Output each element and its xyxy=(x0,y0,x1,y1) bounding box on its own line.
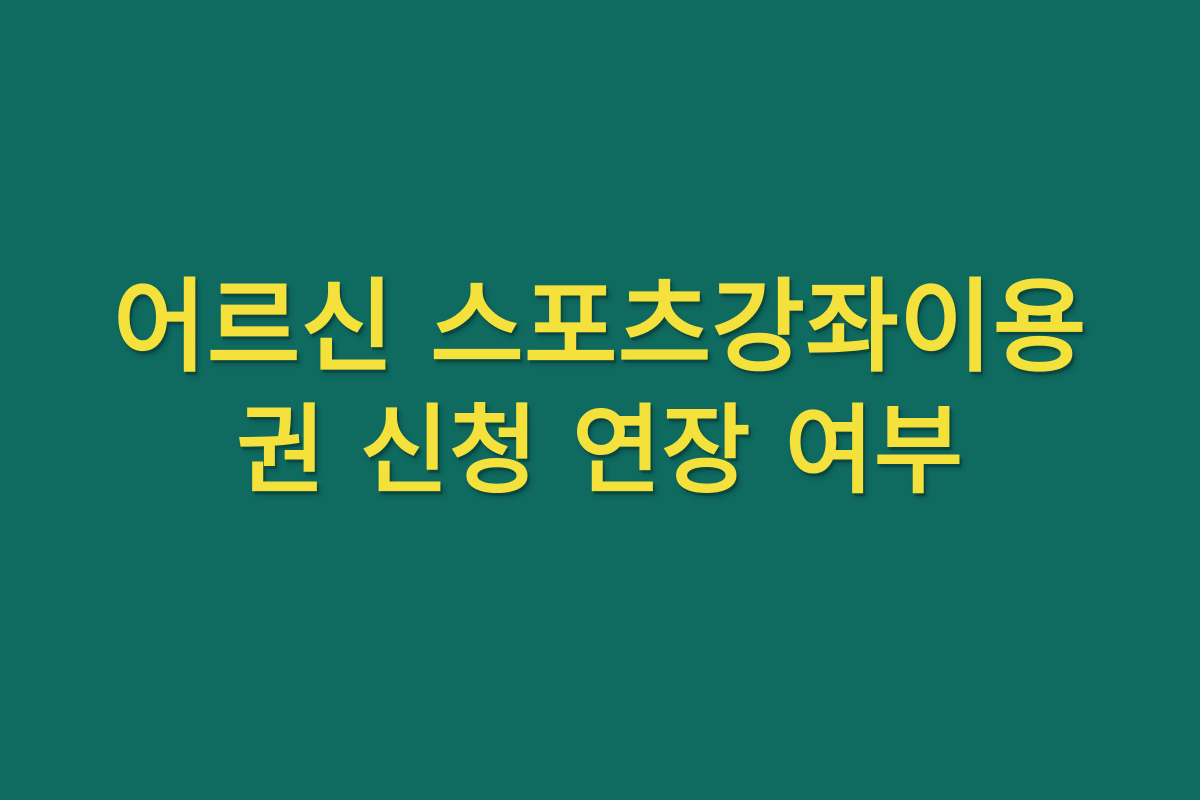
headline-line-1: 어르신 스포츠강좌이용 xyxy=(0,265,1200,391)
headline-text-block: 어르신 스포츠강좌이용 권 신청 연장 여부 xyxy=(0,265,1200,510)
banner-background: 어르신 스포츠강좌이용 권 신청 연장 여부 xyxy=(0,0,1200,800)
headline-line-2: 권 신청 연장 여부 xyxy=(0,391,1200,511)
